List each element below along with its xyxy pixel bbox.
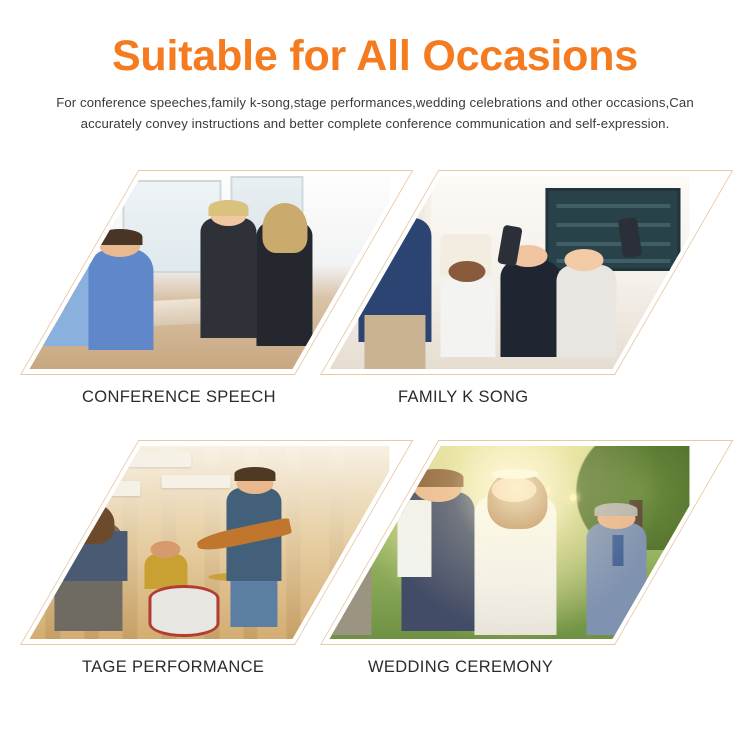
photo-stage-performance — [29, 446, 389, 639]
card-caption-family-k-song: FAMILY K SONG — [398, 388, 528, 407]
artwork-stage-band — [29, 446, 389, 639]
photo-conference-speech — [29, 176, 389, 369]
page-header: Suitable for All Occasions For conferenc… — [0, 0, 750, 134]
artwork-office-meeting — [29, 176, 389, 369]
card-caption-conference-speech: CONFERENCE SPEECH — [82, 388, 276, 407]
occasion-gallery: CONFERENCE SPEECH — [0, 155, 750, 715]
page-subtitle: For conference speeches,family k-song,st… — [45, 93, 705, 134]
card-caption-wedding-ceremony: WEDDING CEREMONY — [368, 658, 553, 677]
page-title: Suitable for All Occasions — [0, 34, 750, 79]
card-caption-stage-performance: TAGE PERFORMANCE — [82, 658, 264, 677]
